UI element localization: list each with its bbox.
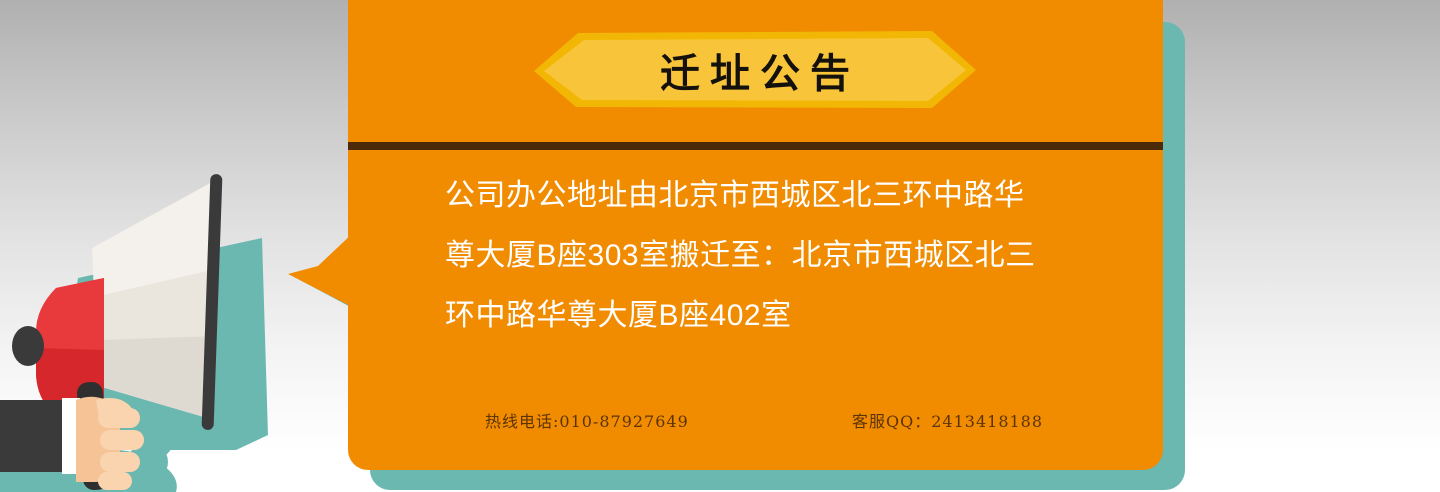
customer-service-qq: 客服QQ：2413418188 (852, 408, 1043, 432)
announcement-banner: 迁址公告 公司办公地址由北京市西城区北三环中路华 尊大厦B座303室搬迁至：北京… (0, 0, 1440, 492)
megaphone-illustration (0, 150, 340, 492)
banner-title: 迁址公告 (532, 31, 978, 109)
announcement-line: 公司办公地址由北京市西城区北三环中路华 (445, 166, 1105, 226)
title-ribbon: 迁址公告 (532, 31, 978, 109)
divider (348, 142, 1163, 150)
announcement-line: 环中路华尊大厦B座402室 (445, 286, 1105, 346)
contact-info: 热线电话:010-87927649 客服QQ：2413418188 (445, 408, 1105, 438)
hotline-phone: 热线电话:010-87927649 (485, 408, 689, 432)
arm-sleeve (0, 398, 80, 474)
bubble-tail (288, 232, 354, 308)
announcement-body: 公司办公地址由北京市西城区北三环中路华 尊大厦B座303室搬迁至：北京市西城区北… (445, 166, 1105, 346)
announcement-line: 尊大厦B座303室搬迁至：北京市西城区北三 (445, 226, 1105, 286)
